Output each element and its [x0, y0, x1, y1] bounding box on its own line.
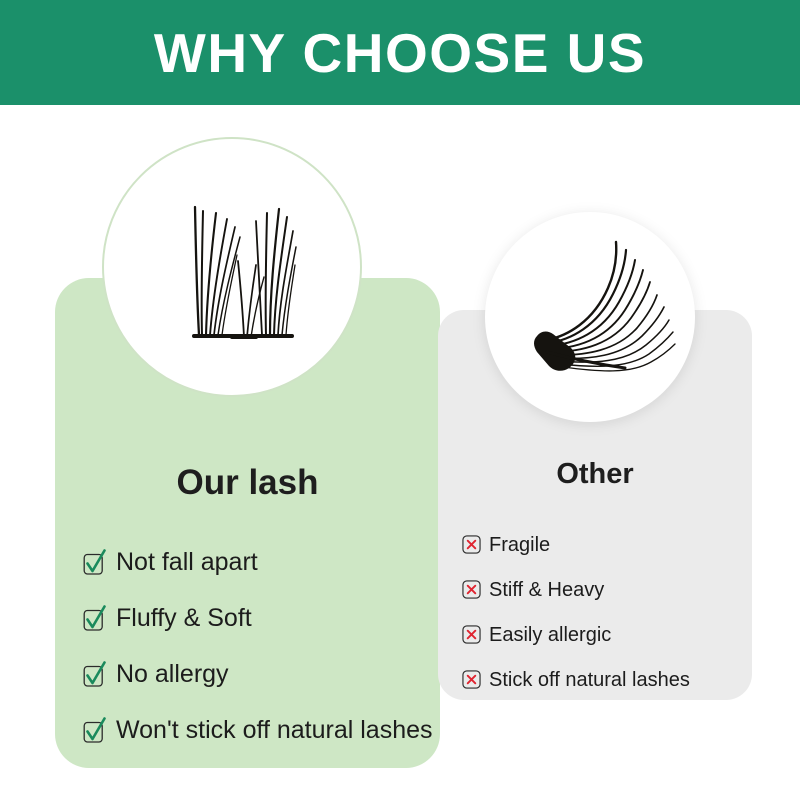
cross-mark-icon: [462, 535, 481, 554]
feature-label: Easily allergic: [489, 625, 611, 645]
our-lash-photo-circle: [102, 137, 362, 397]
our-lash-cluster-icon: [104, 139, 360, 395]
check-mark-icon: [83, 605, 107, 632]
other-lash-photo-circle: [485, 212, 695, 422]
why-choose-us-infographic: WHY CHOOSE US: [0, 0, 800, 800]
page-title: WHY CHOOSE US: [154, 26, 646, 81]
header-banner: WHY CHOOSE US: [0, 0, 800, 105]
other-lash-heading: Other: [438, 460, 752, 489]
cross-mark-icon: [462, 670, 481, 689]
feature-label: Not fall apart: [116, 550, 258, 575]
feature-label: Fluffy & Soft: [116, 606, 252, 631]
other-lash-feature-list: Fragile Stiff & Heavy Easily allergic St…: [462, 522, 742, 702]
other-lash-strip-icon: [485, 212, 695, 422]
list-item: No allergy: [83, 646, 433, 702]
check-mark-icon: [83, 549, 107, 576]
cross-mark-icon: [462, 625, 481, 644]
feature-label: No allergy: [116, 662, 229, 687]
list-item: Won't stick off natural lashes: [83, 702, 433, 758]
our-lash-feature-list: Not fall apart Fluffy & Soft No allergy …: [83, 534, 433, 758]
list-item: Stiff & Heavy: [462, 567, 742, 612]
feature-label: Stiff & Heavy: [489, 580, 604, 600]
list-item: Fluffy & Soft: [83, 590, 433, 646]
our-lash-heading: Our lash: [55, 465, 440, 500]
list-item: Easily allergic: [462, 612, 742, 657]
list-item: Stick off natural lashes: [462, 657, 742, 702]
check-mark-icon: [83, 717, 107, 744]
check-mark-icon: [83, 661, 107, 688]
feature-label: Fragile: [489, 535, 550, 555]
feature-label: Won't stick off natural lashes: [116, 718, 433, 743]
list-item: Not fall apart: [83, 534, 433, 590]
feature-label: Stick off natural lashes: [489, 670, 690, 690]
list-item: Fragile: [462, 522, 742, 567]
cross-mark-icon: [462, 580, 481, 599]
